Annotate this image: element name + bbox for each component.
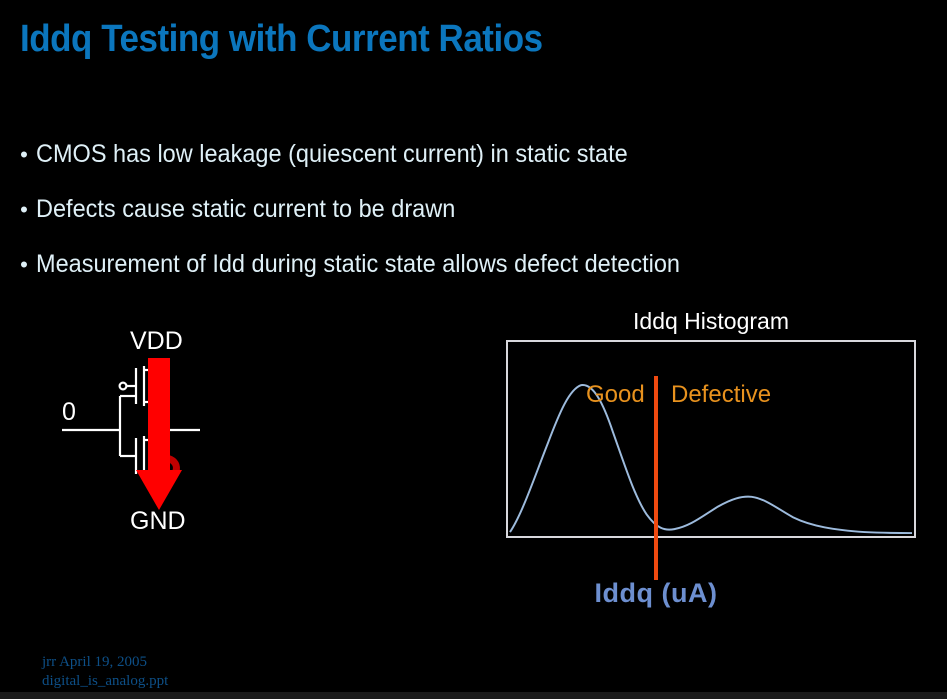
pmos-bubble-icon bbox=[120, 383, 127, 390]
histogram-title: Iddq Histogram bbox=[506, 308, 916, 335]
bullet-marker-icon: • bbox=[12, 199, 36, 221]
input-value-label: 0 bbox=[62, 398, 76, 427]
slide-canvas: Iddq Testing with Current Ratios • CMOS … bbox=[0, 0, 947, 699]
bullet-marker-icon: • bbox=[12, 254, 36, 276]
page-title: Iddq Testing with Current Ratios bbox=[20, 18, 543, 61]
histogram-plot-area bbox=[506, 340, 916, 538]
histogram-curve-svg bbox=[508, 342, 914, 536]
threshold-line bbox=[654, 376, 658, 580]
bullet-text: Measurement of Idd during static state a… bbox=[36, 250, 680, 279]
footer-line-date: jrr April 19, 2005 bbox=[42, 653, 168, 672]
list-item: • Defects cause static current to be dra… bbox=[12, 195, 912, 250]
defective-region-label: Defective bbox=[671, 381, 771, 409]
gnd-label: GND bbox=[130, 507, 186, 536]
bullet-list: • CMOS has low leakage (quiescent curren… bbox=[12, 140, 912, 305]
list-item: • CMOS has low leakage (quiescent curren… bbox=[12, 140, 912, 195]
bottom-strip bbox=[0, 692, 947, 699]
bullet-text: CMOS has low leakage (quiescent current)… bbox=[36, 140, 628, 169]
list-item: • Measurement of Idd during static state… bbox=[12, 250, 912, 305]
current-arrow-icon bbox=[136, 358, 182, 510]
footer-line-filename: digital_is_analog.ppt bbox=[42, 672, 168, 691]
x-axis-label: Iddq (uA) bbox=[506, 578, 806, 609]
footer: jrr April 19, 2005 digital_is_analog.ppt bbox=[42, 653, 168, 691]
vdd-label: VDD bbox=[130, 327, 183, 356]
bullet-text: Defects cause static current to be drawn bbox=[36, 195, 455, 224]
bullet-marker-icon: • bbox=[12, 144, 36, 166]
good-region-label: Good bbox=[586, 381, 645, 409]
cmos-inverter-diagram: VDD GND 0 bbox=[40, 310, 300, 550]
